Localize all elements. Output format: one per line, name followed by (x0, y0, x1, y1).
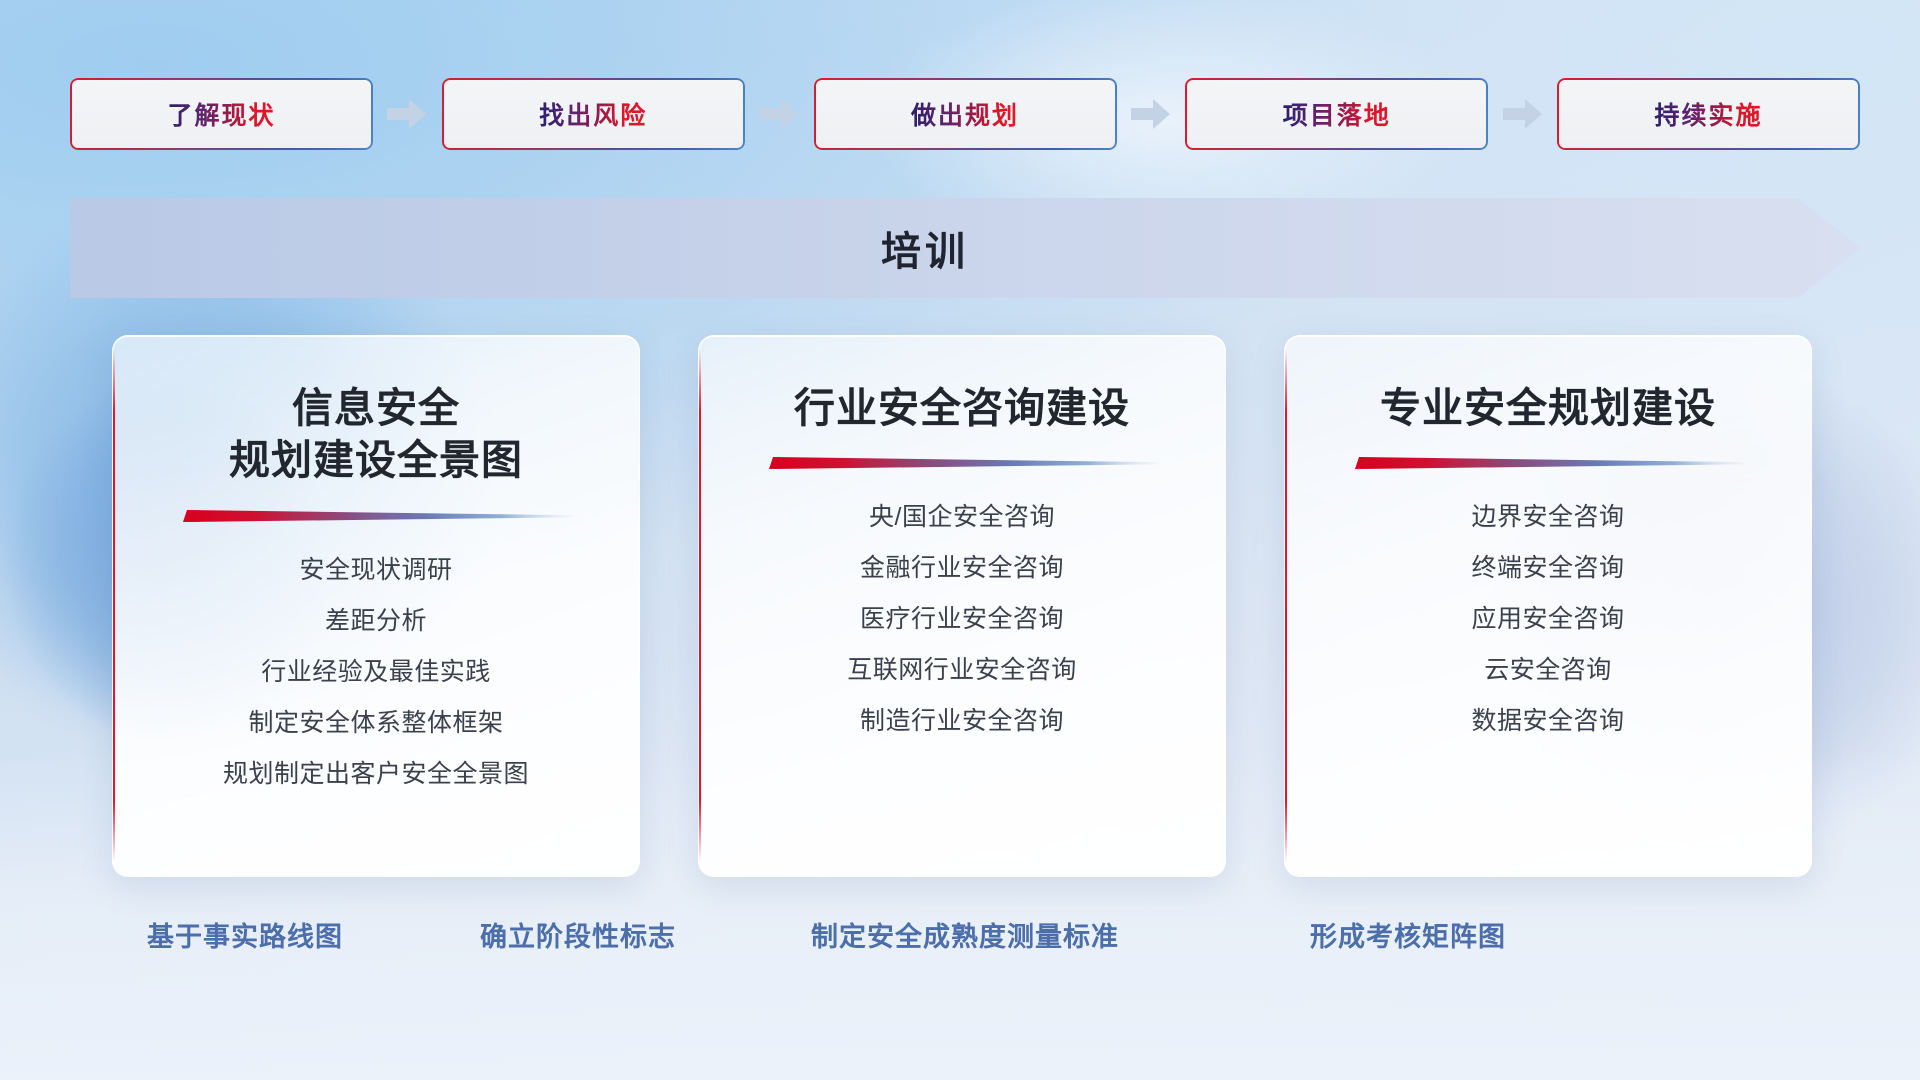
process-step-4[interactable]: 项目落地 (1185, 78, 1488, 150)
list-item[interactable]: 云安全咨询 (1285, 645, 1811, 696)
service-card-title: 行业安全咨询建设 (770, 382, 1154, 434)
service-card-1[interactable]: 信息安全 规划建设全景图安全现状调研差距分析行业经验及最佳实践制定安全体系整体框… (112, 335, 640, 877)
process-step-2[interactable]: 找出风险 (442, 78, 745, 150)
bottom-label-1: 基于事实路线图 (147, 915, 343, 954)
training-banner: 培训 (70, 198, 1860, 298)
list-item[interactable]: 制定安全体系整体框架 (113, 698, 639, 749)
list-item[interactable]: 差距分析 (113, 596, 639, 647)
list-item[interactable]: 安全现状调研 (113, 545, 639, 596)
card-divider-accent (180, 509, 572, 523)
list-item[interactable]: 行业经验及最佳实践 (113, 647, 639, 698)
service-card-title: 专业安全规划建设 (1356, 382, 1740, 434)
card-divider-accent (766, 456, 1158, 470)
list-item[interactable]: 终端安全咨询 (1285, 543, 1811, 594)
arrow-right-icon (1131, 97, 1171, 131)
service-cards-row: 信息安全 规划建设全景图安全现状调研差距分析行业经验及最佳实践制定安全体系整体框… (112, 335, 1812, 877)
service-card-3[interactable]: 专业安全规划建设边界安全咨询终端安全咨询应用安全咨询云安全咨询数据安全咨询 (1284, 335, 1812, 877)
list-item[interactable]: 边界安全咨询 (1285, 492, 1811, 543)
bottom-label-4: 形成考核矩阵图 (1310, 915, 1506, 954)
card-divider-accent (1352, 456, 1744, 470)
service-card-2[interactable]: 行业安全咨询建设央/国企安全咨询金融行业安全咨询医疗行业安全咨询互联网行业安全咨… (698, 335, 1226, 877)
list-item[interactable]: 互联网行业安全咨询 (699, 645, 1225, 696)
arrow-right-icon (759, 97, 799, 131)
service-card-list: 安全现状调研差距分析行业经验及最佳实践制定安全体系整体框架规划制定出客户安全全景… (113, 545, 639, 800)
bottom-labels-row: 基于事实路线图确立阶段性标志制定安全成熟度测量标准形成考核矩阵图 (0, 915, 1920, 961)
service-card-title: 信息安全 规划建设全景图 (205, 382, 547, 487)
process-step-label: 了解现状 (167, 96, 275, 132)
process-step-1[interactable]: 了解现状 (70, 78, 373, 150)
process-step-label: 做出规划 (911, 96, 1019, 132)
list-item[interactable]: 规划制定出客户安全全景图 (113, 749, 639, 800)
process-step-3[interactable]: 做出规划 (814, 78, 1117, 150)
process-step-5[interactable]: 持续实施 (1557, 78, 1860, 150)
list-item[interactable]: 央/国企安全咨询 (699, 492, 1225, 543)
list-item[interactable]: 医疗行业安全咨询 (699, 594, 1225, 645)
arrow-right-icon (1503, 97, 1543, 131)
service-card-list: 央/国企安全咨询金融行业安全咨询医疗行业安全咨询互联网行业安全咨询制造行业安全咨… (699, 492, 1225, 747)
list-item[interactable]: 应用安全咨询 (1285, 594, 1811, 645)
service-card-list: 边界安全咨询终端安全咨询应用安全咨询云安全咨询数据安全咨询 (1285, 492, 1811, 747)
process-steps-row: 了解现状找出风险做出规划项目落地持续实施 (70, 78, 1860, 150)
process-step-label: 项目落地 (1283, 96, 1391, 132)
banner-label: 培训 (70, 198, 1860, 298)
list-item[interactable]: 数据安全咨询 (1285, 696, 1811, 747)
arrow-right-icon (387, 97, 427, 131)
process-step-label: 找出风险 (539, 96, 647, 132)
bottom-label-3: 制定安全成熟度测量标准 (811, 915, 1119, 954)
bottom-label-2: 确立阶段性标志 (480, 915, 676, 954)
slide-root: 了解现状找出风险做出规划项目落地持续实施 培训 信息安全 规划建设全景图安全现状… (0, 0, 1920, 1080)
process-step-label: 持续实施 (1654, 96, 1762, 132)
list-item[interactable]: 制造行业安全咨询 (699, 696, 1225, 747)
list-item[interactable]: 金融行业安全咨询 (699, 543, 1225, 594)
